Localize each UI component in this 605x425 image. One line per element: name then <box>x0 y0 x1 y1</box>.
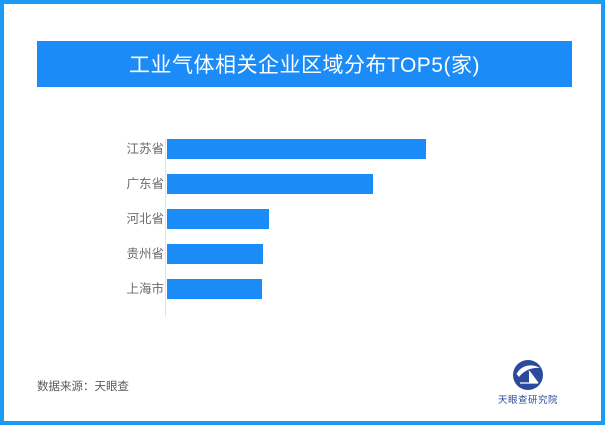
tianyancha-emblem-icon <box>512 359 544 391</box>
category-label-3: 贵州省 <box>14 244 174 264</box>
category-label-4: 上海市 <box>14 279 174 299</box>
bar-row: 广东省 <box>4 174 605 209</box>
bar-row: 上海市 <box>4 279 605 314</box>
chart-plot-area: 江苏省 广东省 河北省 贵州省 上海市 <box>4 124 605 329</box>
chart-title-banner: 工业气体相关企业区域分布TOP5(家) <box>37 41 572 87</box>
page-title: 工业气体相关企业区域分布TOP5(家) <box>129 49 480 79</box>
category-label-2: 河北省 <box>14 209 174 229</box>
bar-2[interactable] <box>167 209 269 229</box>
bar-3[interactable] <box>167 244 263 264</box>
brand-logo: 天眼查研究院 <box>485 359 571 407</box>
category-label-0: 江苏省 <box>14 139 174 159</box>
bar-row: 河北省 <box>4 209 605 244</box>
data-source-label: 数据来源：天眼查 <box>37 378 129 394</box>
bar-1[interactable] <box>167 174 373 194</box>
brand-name-label: 天眼查研究院 <box>498 392 558 406</box>
chart-canvas: 工业气体相关企业区域分布TOP5(家) 江苏省 广东省 河北省 贵州省 <box>0 0 605 425</box>
bar-row: 江苏省 <box>4 139 605 174</box>
bar-0[interactable] <box>167 139 426 159</box>
bar-row: 贵州省 <box>4 244 605 279</box>
category-label-1: 广东省 <box>14 174 174 194</box>
bar-rows: 江苏省 广东省 河北省 贵州省 上海市 <box>4 139 605 314</box>
bar-4[interactable] <box>167 279 262 299</box>
